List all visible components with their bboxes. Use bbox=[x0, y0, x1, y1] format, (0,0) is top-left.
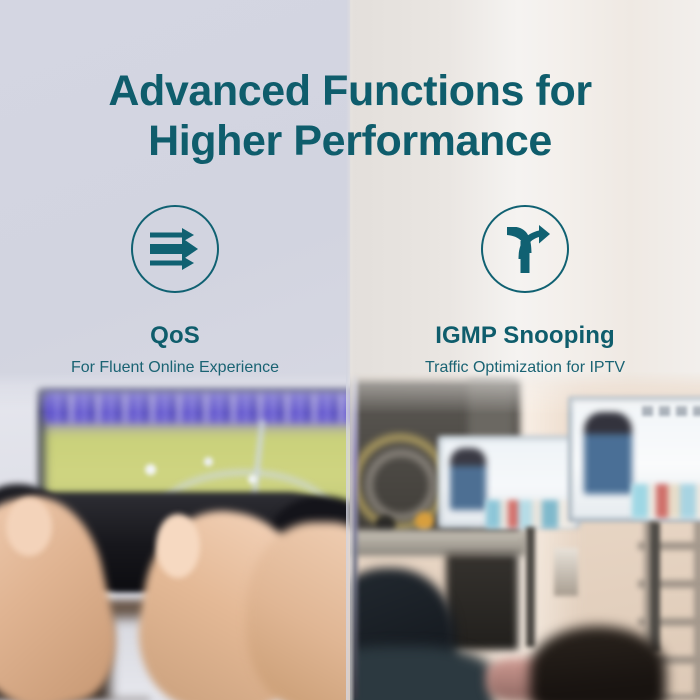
banner-content: Advanced Functions for Higher Performanc… bbox=[0, 0, 700, 700]
marketing-banner: Advanced Functions for Higher Performanc… bbox=[0, 0, 700, 700]
feature-columns: QoS For Fluent Online Experience bbox=[0, 205, 700, 385]
igmp-icon-ring bbox=[481, 205, 569, 293]
feature-title-qos: QoS bbox=[150, 322, 200, 350]
feature-subtitle-igmp: Traffic Optimization for IPTV bbox=[425, 358, 625, 378]
qos-icon-ring bbox=[131, 205, 219, 293]
feature-qos: QoS For Fluent Online Experience bbox=[0, 205, 350, 385]
page-title-line2: Higher Performance bbox=[0, 116, 700, 166]
traffic-branch-icon bbox=[498, 223, 552, 275]
feature-igmp-snooping: IGMP Snooping Traffic Optimization for I… bbox=[350, 205, 700, 385]
page-title-line1: Advanced Functions for bbox=[108, 67, 591, 115]
qos-arrows-icon bbox=[148, 224, 202, 274]
feature-title-igmp: IGMP Snooping bbox=[435, 322, 615, 350]
feature-subtitle-qos: For Fluent Online Experience bbox=[71, 358, 279, 378]
page-title: Advanced Functions for Higher Performanc… bbox=[0, 66, 700, 166]
